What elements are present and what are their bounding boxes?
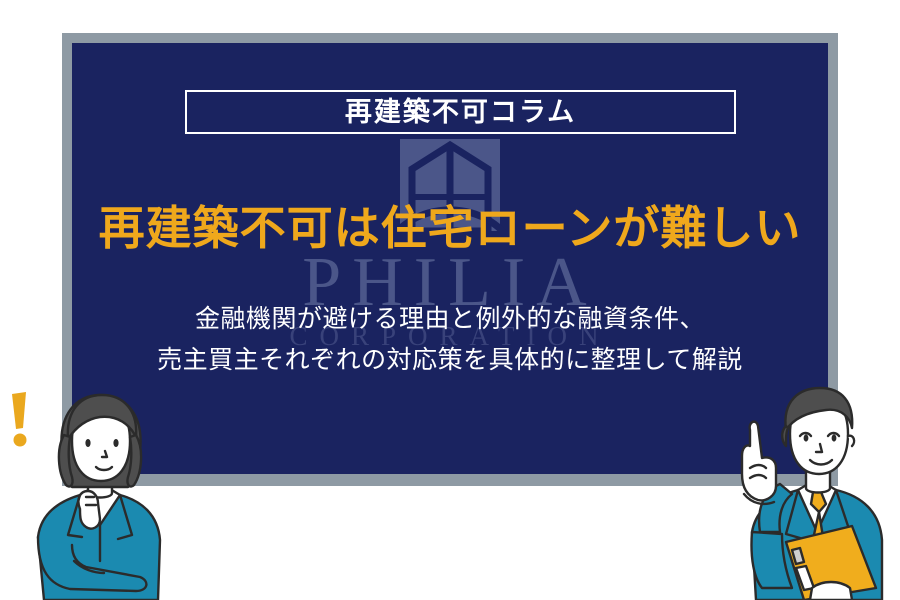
man-pointing-illustration	[700, 382, 900, 600]
subtitle-line-2: 売主買主それぞれの対応策を具体的に整理して解説	[72, 340, 828, 381]
column-title-badge: 再建築不可コラム	[185, 90, 736, 134]
woman-thinking-illustration	[8, 385, 193, 600]
subtitle-line-1: 金融機関が避ける理由と例外的な融資条件、	[72, 299, 828, 340]
headline-text: 再建築不可は住宅ローンが難しい	[72, 202, 828, 255]
column-title-text: 再建築不可コラム	[345, 99, 576, 126]
banner-canvas: PHILIA CORPORATION 再建築不可コラム 再建築不可は住宅ローンが…	[0, 0, 900, 600]
subtitle-block: 金融機関が避ける理由と例外的な融資条件、 売主買主それぞれの対応策を具体的に整理…	[72, 299, 828, 380]
